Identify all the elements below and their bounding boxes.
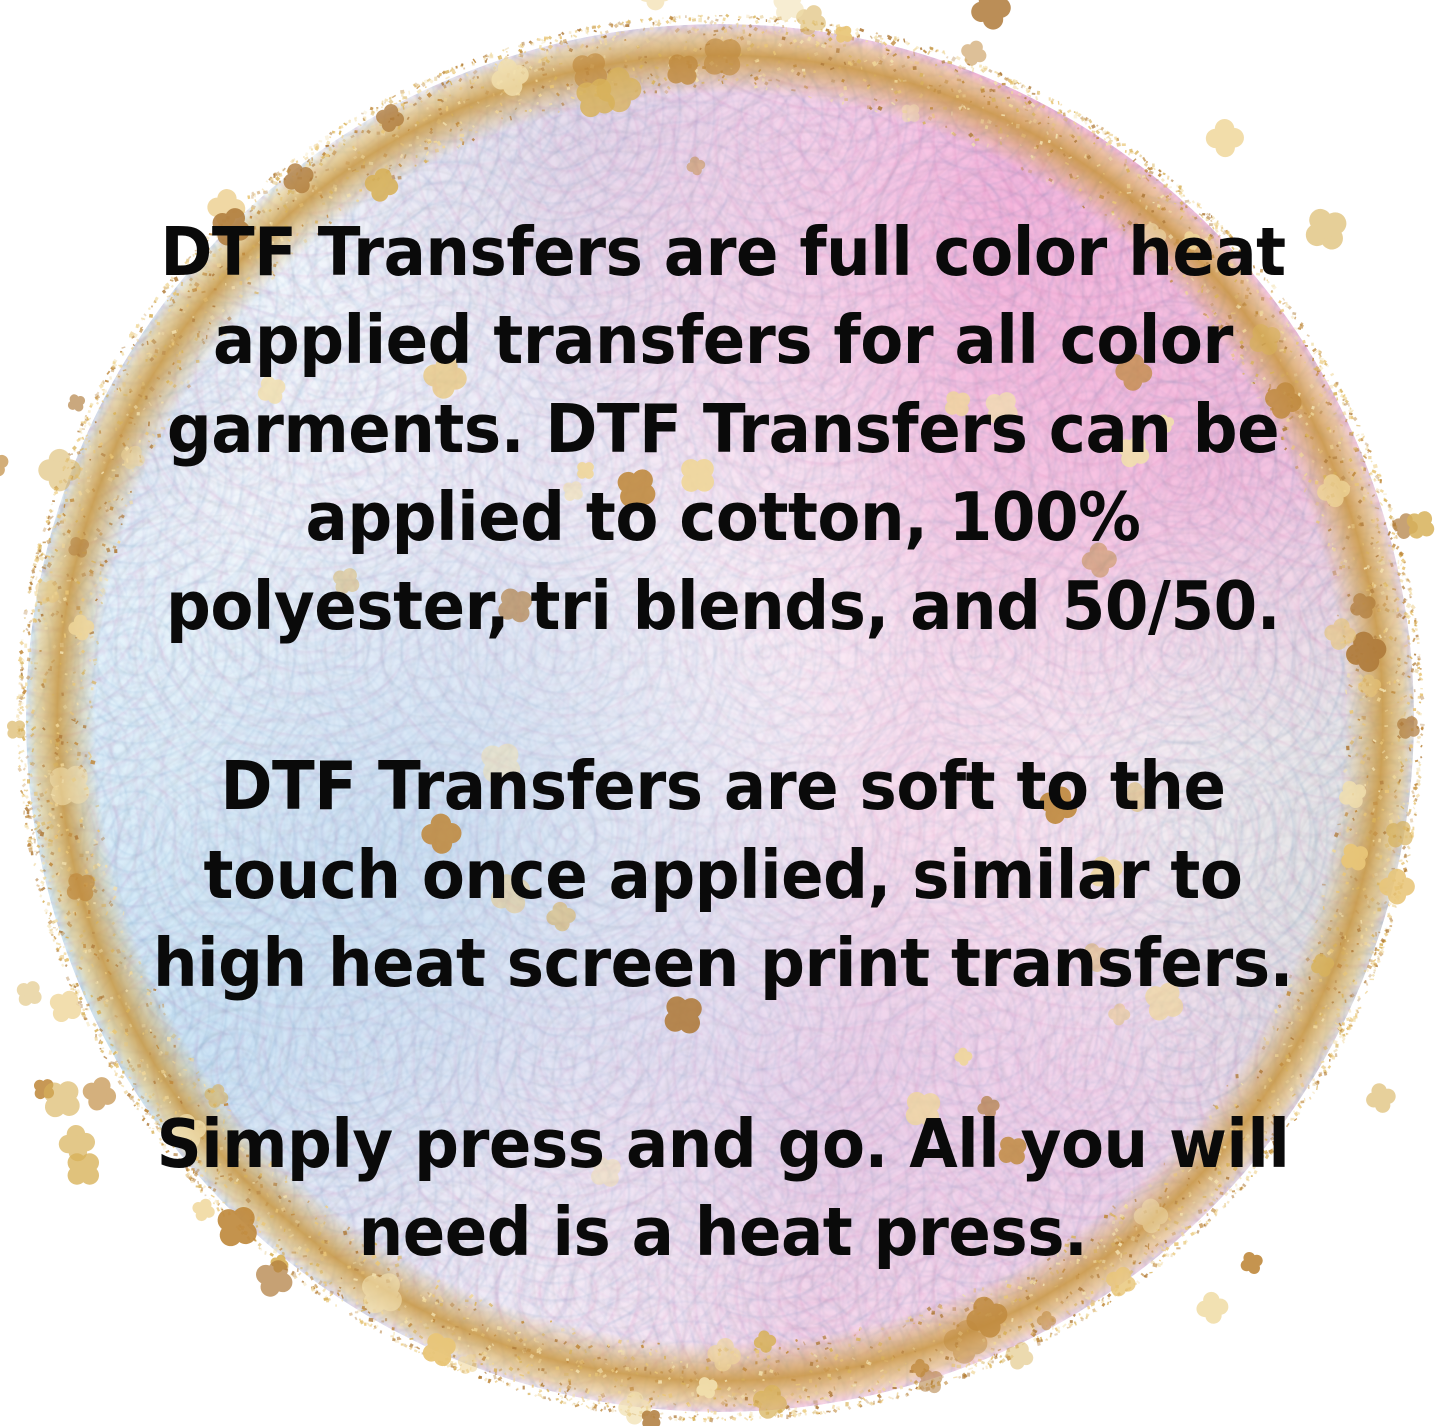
medallion-white-wash [26,24,1414,1412]
marble-medallion-background [26,24,1414,1412]
info-graphic-canvas: DTF Transfers are full color heat applie… [0,0,1445,1426]
